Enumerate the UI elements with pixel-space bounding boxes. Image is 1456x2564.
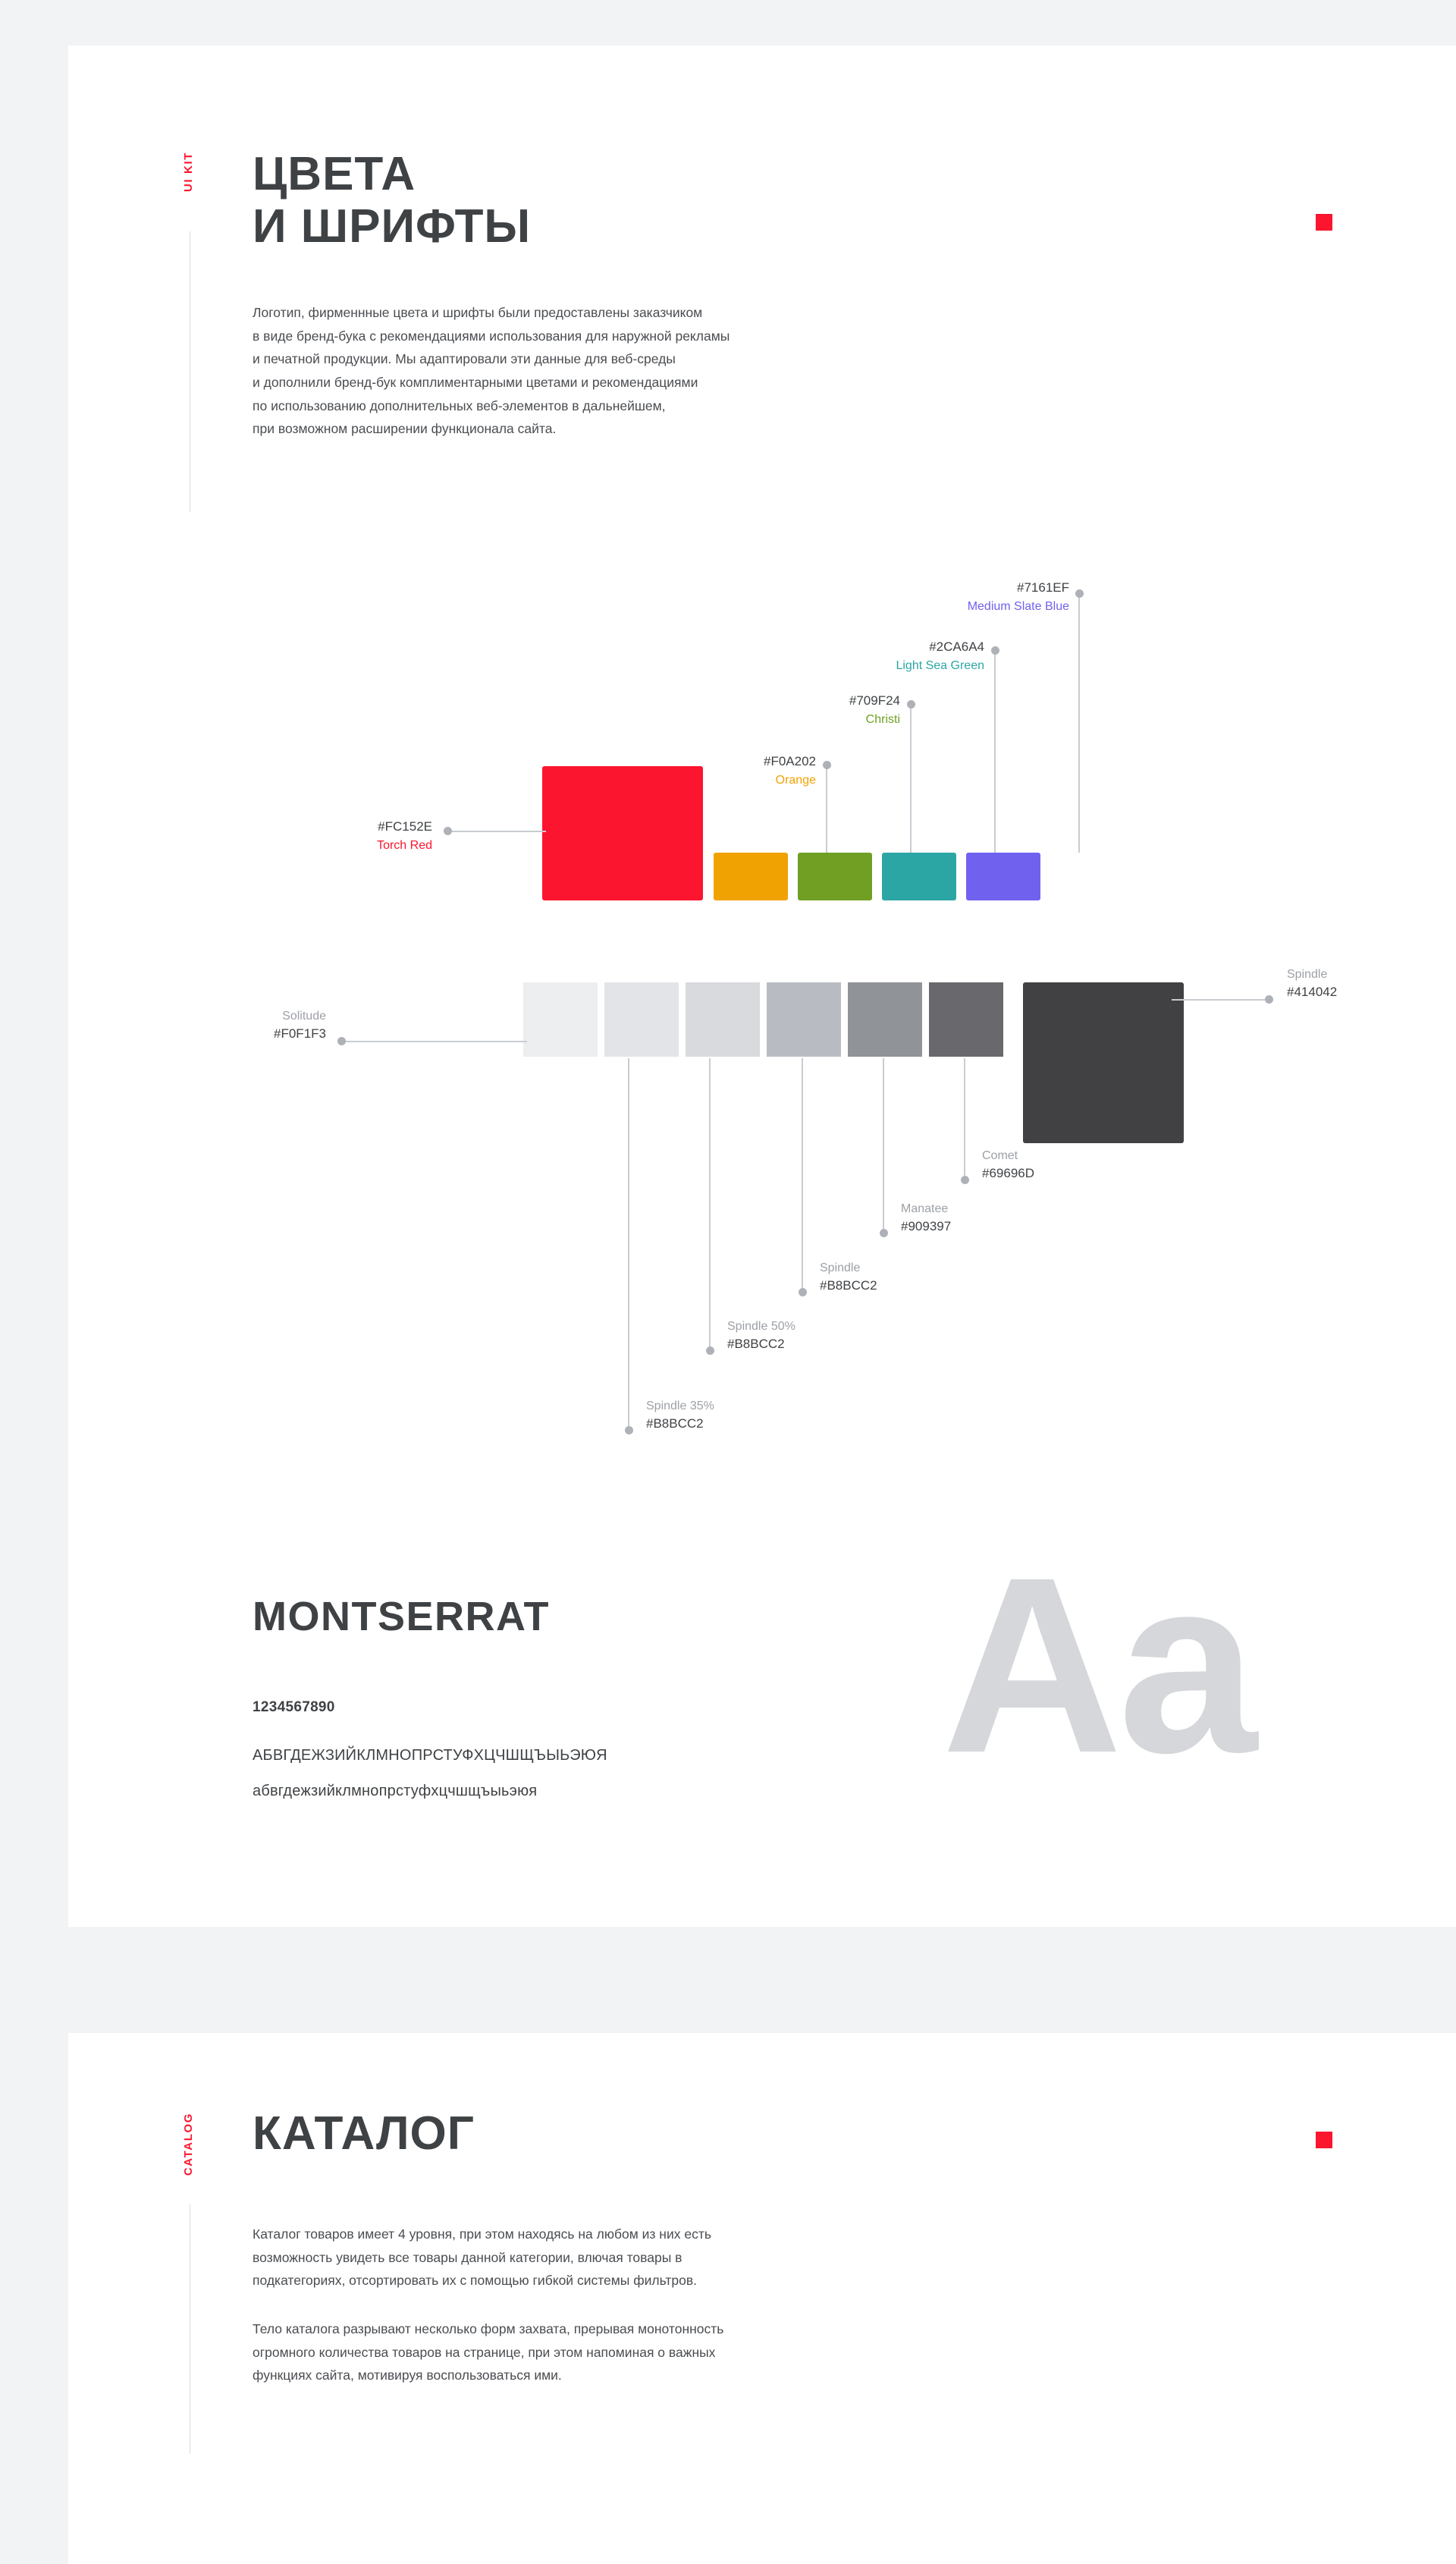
connector-line-spindle-35 — [628, 1058, 629, 1430]
label-name: Orange — [599, 771, 816, 789]
label-hex: #F0F1F3 — [114, 1025, 326, 1044]
connector-line-solitude — [345, 1041, 527, 1042]
uikit-page-title: ЦВЕТА И ШРИФТЫ — [253, 148, 531, 253]
font-specimen-aa: Aa — [942, 1540, 1253, 1790]
label-spindle-dark: Spindle #414042 — [1287, 966, 1456, 1002]
label-name: Spindle — [1287, 966, 1456, 983]
swatch-spindle — [767, 982, 841, 1057]
label-orange: #F0A202 Orange — [599, 753, 816, 789]
label-hex: #FC152E — [212, 818, 432, 837]
uikit-kicker: UI KIT — [182, 152, 195, 192]
swatch-comet — [929, 982, 1003, 1057]
label-name: Torch Red — [212, 837, 432, 854]
catalog-page-title: КАТАЛОГ — [253, 2107, 475, 2160]
label-name: Light Sea Green — [766, 657, 984, 674]
label-name: Solitude — [114, 1007, 326, 1025]
label-medium-slate-blue: #7161EF Medium Slate Blue — [849, 579, 1069, 615]
catalog-paragraph-2: Тело каталога разрывают несколько форм з… — [253, 2317, 723, 2387]
label-comet: Comet #69696D — [982, 1147, 1210, 1183]
label-light-sea-green: #2CA6A4 Light Sea Green — [766, 638, 984, 674]
label-torch-red: #FC152E Torch Red — [212, 818, 432, 854]
label-hex: #B8BCC2 — [820, 1277, 1047, 1296]
swatch-light-sea-green — [882, 853, 956, 900]
font-family-name: MONTSERRAT — [253, 1593, 550, 1640]
connector-knob-sea — [991, 646, 999, 655]
label-hex: #7161EF — [849, 579, 1069, 598]
label-name: Manatee — [901, 1200, 1128, 1218]
connector-line-sea — [994, 650, 996, 853]
connector-line-red — [451, 831, 546, 832]
label-name: Spindle — [820, 1259, 1047, 1277]
font-uppercase-alphabet: АБВГДЕЖЗИЙКЛМНОПРСТУФХЦЧШЩЪЫЬЭЮЯ — [253, 1747, 607, 1764]
swatch-medium-slate-blue — [966, 853, 1040, 900]
font-numerals: 1234567890 — [253, 1699, 335, 1716]
label-hex: #F0A202 — [599, 753, 816, 771]
label-name: Medium Slate Blue — [849, 598, 1069, 615]
label-name: Spindle 50% — [727, 1318, 955, 1335]
label-hex: #909397 — [901, 1218, 1128, 1236]
connector-knob-spindle-35 — [625, 1426, 633, 1434]
connector-knob-orange — [823, 761, 831, 769]
label-name: Christi — [682, 711, 900, 728]
uikit-vertical-rule — [190, 231, 190, 512]
connector-knob-manatee — [880, 1229, 888, 1237]
font-lowercase-alphabet: абвгдежзийклмнопрстуфхцчшщъыьэюя — [253, 1783, 537, 1800]
catalog-section-card: CATALOG КАТАЛОГ Каталог товаров имеет 4 … — [68, 2033, 1456, 2564]
connector-line-comet — [964, 1058, 965, 1180]
swatch-orange — [714, 853, 788, 900]
connector-knob-solitude — [337, 1037, 346, 1045]
swatch-solitude — [523, 982, 598, 1057]
connector-line-slate — [1078, 593, 1080, 853]
label-spindle-35: Spindle 35% #B8BCC2 — [646, 1397, 874, 1434]
connector-line-spindle — [802, 1058, 803, 1292]
connector-knob-spindle-dark — [1265, 995, 1273, 1004]
red-square-marker — [1316, 214, 1332, 231]
swatch-spindle-dark — [1023, 982, 1184, 1143]
connector-knob-comet — [961, 1176, 969, 1184]
label-christi: #709F24 Christi — [682, 692, 900, 728]
swatch-manatee — [848, 982, 922, 1057]
red-square-marker — [1316, 2132, 1332, 2148]
connector-knob-red — [444, 827, 452, 835]
swatch-spindle-50 — [686, 982, 760, 1057]
connector-line-spindle-dark — [1172, 999, 1270, 1001]
uikit-description: Логотип, фирменнные цвета и шрифты были … — [253, 301, 730, 441]
label-solitude: Solitude #F0F1F3 — [114, 1007, 326, 1044]
connector-line-manatee — [883, 1058, 884, 1233]
connector-knob-spindle — [799, 1288, 807, 1296]
connector-line-christi — [910, 704, 912, 853]
label-spindle-50: Spindle 50% #B8BCC2 — [727, 1318, 955, 1354]
connector-line-spindle-50 — [709, 1058, 711, 1350]
uikit-section-card: UI KIT ЦВЕТА И ШРИФТЫ Логотип, фирменнны… — [68, 46, 1456, 1927]
connector-knob-christi — [907, 700, 915, 709]
label-hex: #2CA6A4 — [766, 638, 984, 657]
label-hex: #709F24 — [682, 692, 900, 711]
catalog-kicker: CATALOG — [182, 2113, 195, 2176]
label-name: Comet — [982, 1147, 1210, 1164]
label-manatee: Manatee #909397 — [901, 1200, 1128, 1236]
connector-knob-slate — [1075, 589, 1084, 598]
catalog-vertical-rule — [190, 2204, 190, 2454]
connector-line-orange — [826, 765, 827, 853]
swatch-christi — [798, 853, 872, 900]
label-hex: #414042 — [1287, 983, 1456, 1002]
swatch-spindle-35 — [604, 982, 679, 1057]
label-hex: #B8BCC2 — [646, 1415, 874, 1434]
label-hex: #B8BCC2 — [727, 1335, 955, 1354]
label-spindle: Spindle #B8BCC2 — [820, 1259, 1047, 1296]
connector-knob-spindle-50 — [706, 1346, 714, 1355]
label-name: Spindle 35% — [646, 1397, 874, 1415]
label-hex: #69696D — [982, 1164, 1210, 1183]
catalog-paragraph-1: Каталог товаров имеет 4 уровня, при этом… — [253, 2223, 711, 2292]
